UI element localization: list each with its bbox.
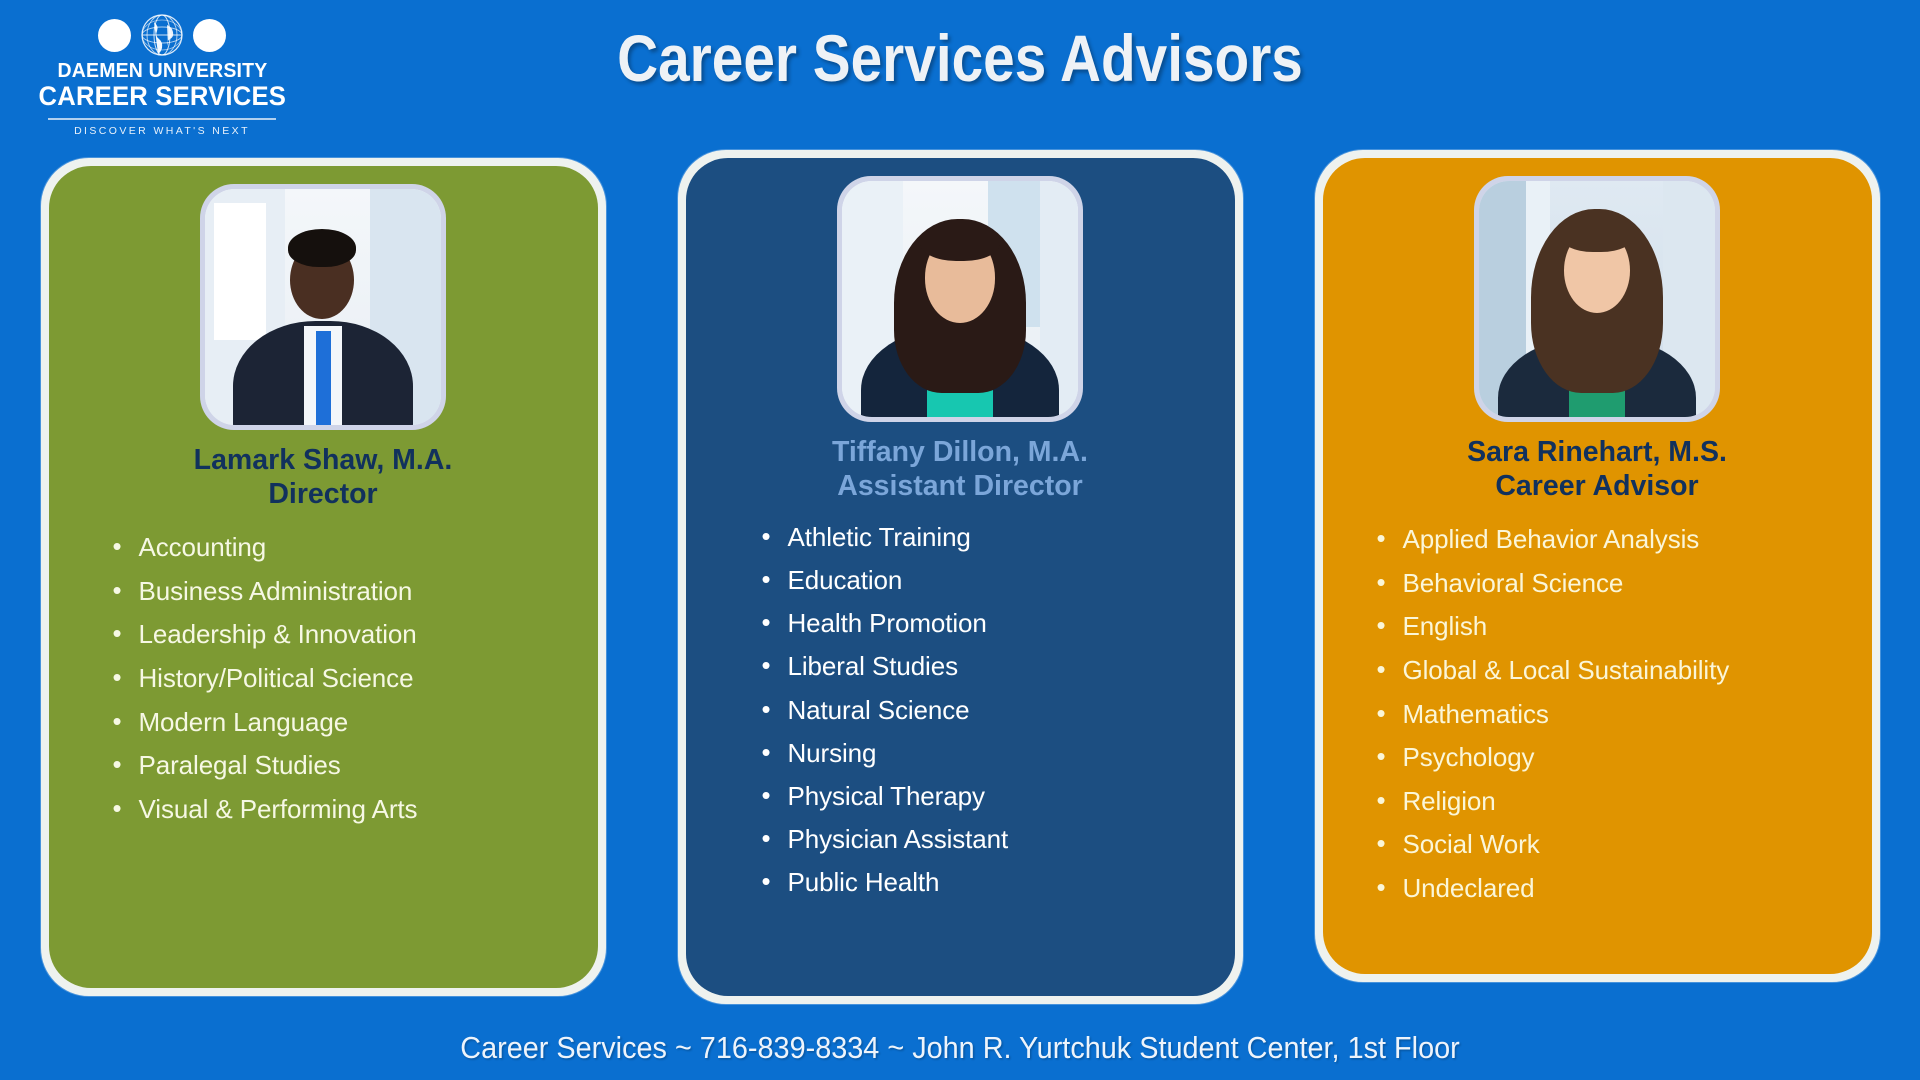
logo-divider — [48, 118, 276, 120]
advisor-card-lamark-shaw[interactable]: Lamark Shaw, M.A. Director Accounting Bu… — [41, 158, 606, 996]
list-item: Applied Behavior Analysis — [1377, 525, 1872, 553]
advisor-name: Lamark Shaw, M.A. — [194, 444, 453, 478]
list-item: Leadership & Innovation — [113, 620, 598, 648]
advisor-name-block: Lamark Shaw, M.A. Director — [178, 444, 469, 511]
card-body-navy: Tiffany Dillon, M.A. Assistant Director … — [686, 158, 1235, 996]
list-item: Natural Science — [762, 696, 1235, 724]
card-body-orange: Sara Rinehart, M.S. Career Advisor Appli… — [1323, 158, 1872, 974]
list-item: Public Health — [762, 868, 1235, 896]
list-item: Global & Local Sustainability — [1377, 656, 1872, 684]
avatar-frame — [837, 176, 1083, 422]
advisor-card-tiffany-dillon[interactable]: Tiffany Dillon, M.A. Assistant Director … — [678, 150, 1243, 1004]
list-item: Physical Therapy — [762, 782, 1235, 810]
major-list: Applied Behavior Analysis Behavioral Sci… — [1323, 525, 1872, 917]
list-item: History/Political Science — [113, 664, 598, 692]
list-item: Health Promotion — [762, 609, 1235, 637]
advisor-card-sara-rinehart[interactable]: Sara Rinehart, M.S. Career Advisor Appli… — [1315, 150, 1880, 982]
list-item: Psychology — [1377, 743, 1872, 771]
advisor-role: Career Advisor — [1467, 470, 1727, 504]
list-item: Liberal Studies — [762, 652, 1235, 680]
page-title: Career Services Advisors — [134, 20, 1785, 96]
card-body-green: Lamark Shaw, M.A. Director Accounting Bu… — [49, 166, 598, 988]
list-item: Business Administration — [113, 577, 598, 605]
major-list: Athletic Training Education Health Promo… — [686, 523, 1235, 911]
logo-tagline: DISCOVER WHAT'S NEXT — [74, 125, 250, 137]
avatar — [1479, 181, 1715, 417]
advisor-cards-row: Lamark Shaw, M.A. Director Accounting Bu… — [0, 158, 1920, 998]
advisor-role: Assistant Director — [832, 470, 1088, 504]
avatar-frame — [200, 184, 446, 430]
list-item: Paralegal Studies — [113, 751, 598, 779]
list-item: Undeclared — [1377, 874, 1872, 902]
list-item: Modern Language — [113, 708, 598, 736]
advisor-role: Director — [194, 478, 453, 512]
list-item: Athletic Training — [762, 523, 1235, 551]
poster-root: DAEMEN UNIVERSITY CAREER SERVICES DISCOV… — [0, 0, 1920, 1080]
advisor-name: Sara Rinehart, M.S. — [1467, 436, 1727, 470]
list-item: Religion — [1377, 787, 1872, 815]
list-item: Education — [762, 566, 1235, 594]
avatar — [842, 181, 1078, 417]
list-item: Accounting — [113, 533, 598, 561]
header: DAEMEN UNIVERSITY CAREER SERVICES DISCOV… — [0, 0, 1920, 160]
advisor-name: Tiffany Dillon, M.A. — [832, 436, 1088, 470]
list-item: English — [1377, 612, 1872, 640]
avatar — [205, 189, 441, 425]
circle-icon-left — [98, 19, 131, 52]
list-item: Mathematics — [1377, 700, 1872, 728]
major-list: Accounting Business Administration Leade… — [49, 533, 598, 838]
list-item: Physician Assistant — [762, 825, 1235, 853]
advisor-name-block: Tiffany Dillon, M.A. Assistant Director — [816, 436, 1104, 503]
list-item: Social Work — [1377, 830, 1872, 858]
list-item: Behavioral Science — [1377, 569, 1872, 597]
avatar-frame — [1474, 176, 1720, 422]
list-item: Visual & Performing Arts — [113, 795, 598, 823]
advisor-name-block: Sara Rinehart, M.S. Career Advisor — [1451, 436, 1743, 503]
footer-contact: Career Services ~ 716-839-8334 ~ John R.… — [67, 1030, 1853, 1066]
list-item: Nursing — [762, 739, 1235, 767]
